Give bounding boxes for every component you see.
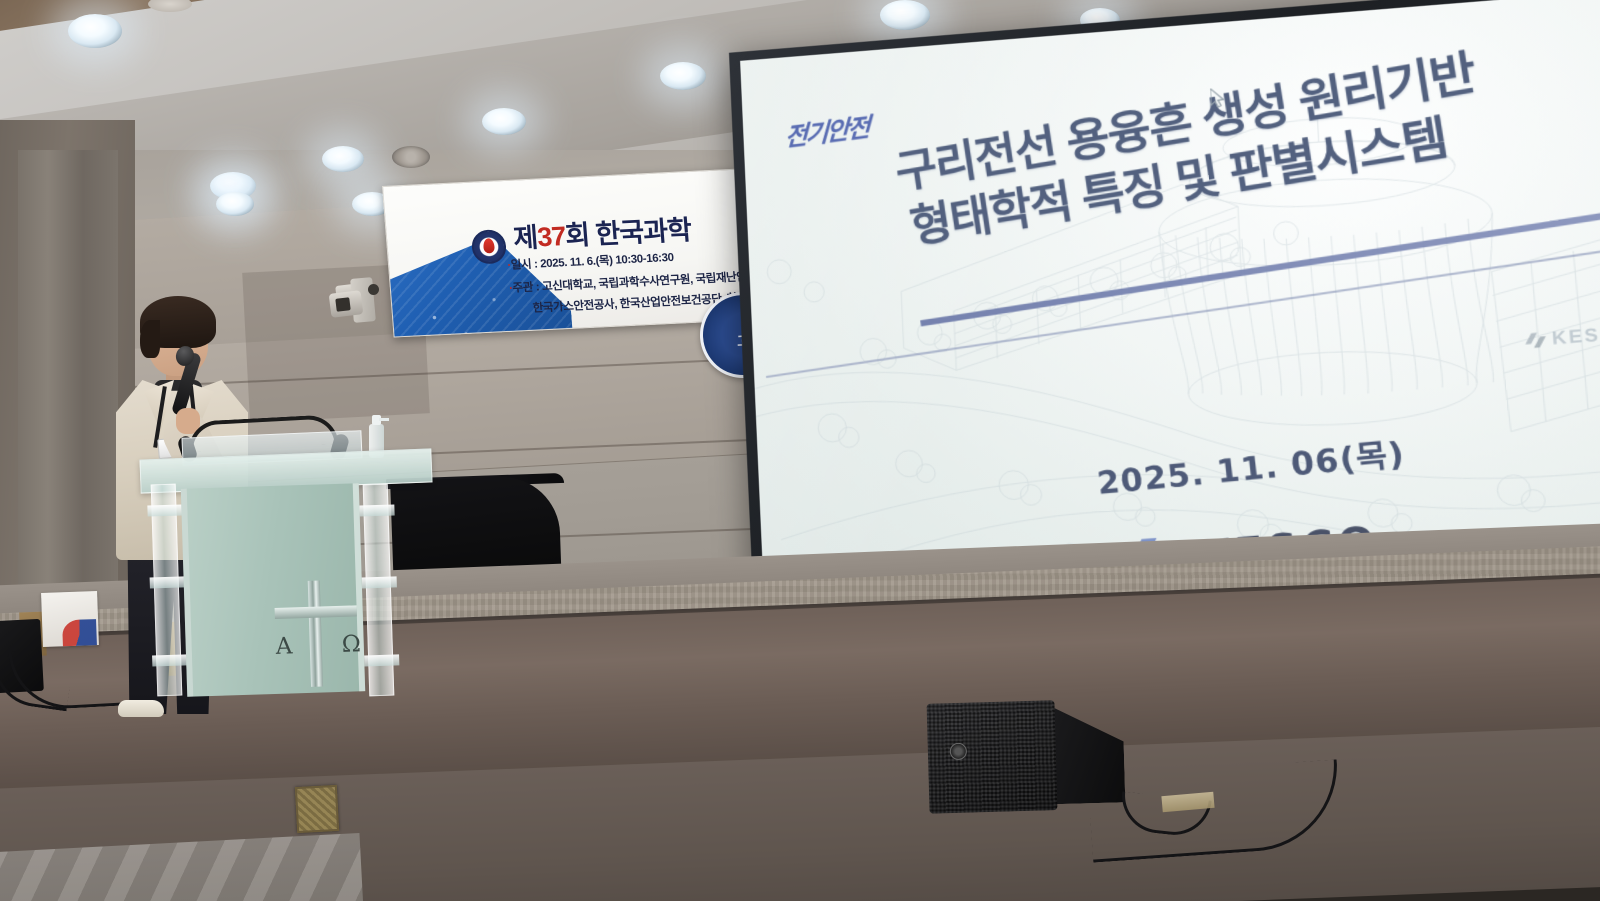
cross-icon: [308, 581, 323, 687]
banner-line-1-value: 2025. 11. 6.(목) 10:30-16:30: [540, 252, 674, 270]
podium-column-right: [363, 484, 395, 697]
auditorium-photo-scene: 제37회 한국과학 ·일시 : 2025. 11. 6.(목) 10:30-16…: [0, 0, 1600, 901]
ceiling-downlight: [68, 14, 122, 48]
sign-board-graphic: [62, 619, 97, 647]
monitor-grille: [927, 700, 1058, 814]
podium-column-knob: [147, 504, 182, 516]
kesco-watermark-mark: [1524, 332, 1546, 349]
banner-title-number: 37: [536, 221, 566, 252]
mouse-pointer-icon: [1210, 87, 1226, 109]
cctv-camera-lens: [335, 297, 350, 312]
cross-icon-bar: [275, 605, 357, 619]
banner-line-2-label: 주관: [512, 282, 533, 295]
podium-column-knob: [362, 576, 397, 588]
podium-column-knob: [364, 654, 399, 666]
banner-title-prefix: 제: [512, 222, 538, 253]
ceiling-downlight: [660, 62, 706, 90]
podium-front-panel: A Ω: [181, 483, 365, 696]
glass-podium: A Ω: [140, 440, 432, 708]
ceiling-downlight: [216, 192, 254, 216]
cctv-camera-lens: [368, 284, 379, 295]
podium-column-knob: [150, 576, 185, 588]
ceiling-downlight: [880, 0, 930, 30]
ceiling-vent: [392, 146, 430, 168]
banner-title-suffix: 회 한국과학: [564, 215, 692, 251]
brass-floor-outlet: [295, 785, 339, 833]
omega-symbol: Ω: [341, 631, 361, 658]
ceiling-downlight: [482, 108, 526, 135]
banner-line-1-label: 일시: [510, 259, 531, 272]
ceiling-downlight: [322, 146, 364, 172]
leaning-sign-board: [41, 591, 99, 647]
podium-column-knob: [359, 504, 394, 516]
podium-column-knob: [152, 654, 187, 666]
podium-column-left: [151, 484, 183, 697]
alpha-symbol: A: [275, 633, 292, 660]
presenter-hair-side: [140, 320, 160, 358]
